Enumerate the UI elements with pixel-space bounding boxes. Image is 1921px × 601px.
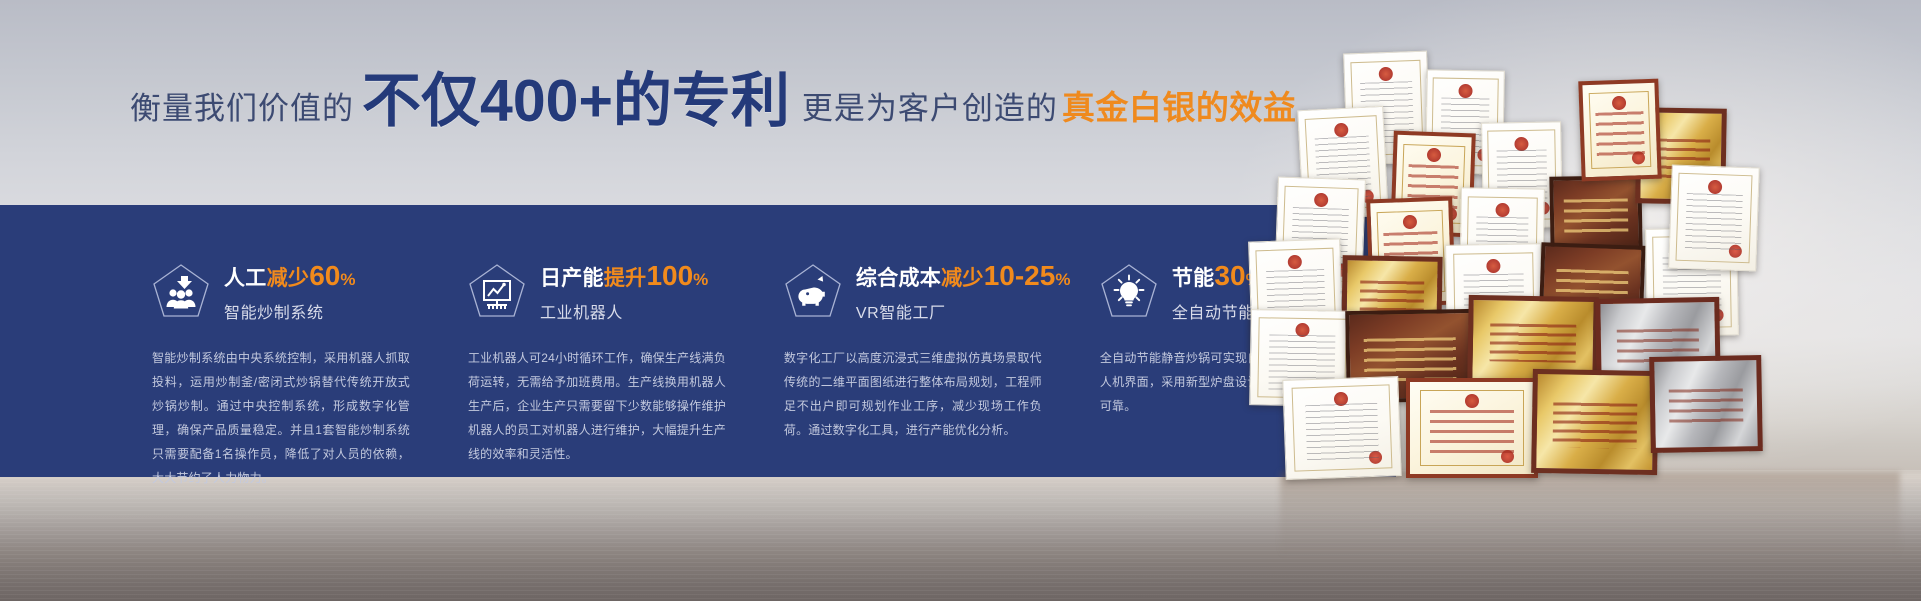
- feature-header: 综合成本减少10-25% VR智能工厂: [784, 260, 1100, 326]
- chart-board-icon: [468, 262, 526, 320]
- feature-panel: 人工减少60% 智能炒制系统 智能炒制系统由中央系统控制，采用机器人抓取投料，运…: [0, 205, 1396, 477]
- feature-title-plain: 节能: [1172, 267, 1215, 290]
- certificate-emblem-icon: [1295, 323, 1309, 337]
- feature-subtitle: 工业机器人: [540, 299, 709, 323]
- feature-title-accent: 减少: [267, 267, 310, 290]
- feature-subtitle: VR智能工厂: [856, 299, 1071, 323]
- certificate-item: [1282, 376, 1401, 480]
- certificate-emblem-icon: [1334, 123, 1349, 138]
- feature-body: 工业机器人可24小时循环工作，确保生产线满负荷运转，无需给予加班费用。生产线换用…: [468, 346, 726, 466]
- certificate-emblem-icon: [1708, 180, 1722, 194]
- feature-title-accent: 提升: [604, 267, 647, 290]
- feature-title: 人工减少60%: [224, 261, 356, 291]
- feature-title-unit: %: [693, 270, 708, 289]
- feature-title-number: 60: [309, 260, 340, 291]
- certificate-item: [1668, 164, 1760, 271]
- certificate-item: [1649, 355, 1763, 453]
- piggy-bank-icon: [784, 262, 842, 320]
- certificate-emblem-icon: [1465, 394, 1479, 408]
- certificate-emblem-icon: [1379, 67, 1393, 81]
- certificate-emblem-icon: [1288, 255, 1302, 269]
- feature-item-cost: 综合成本减少10-25% VR智能工厂 数字化工厂以高度沉浸式三维虚拟仿真场景取…: [784, 260, 1100, 477]
- certificate-emblem-icon: [1612, 96, 1626, 110]
- certificate-emblem-icon: [1314, 193, 1328, 207]
- feature-title-plain: 日产能: [540, 267, 604, 290]
- certificate-item: [1406, 378, 1538, 478]
- feature-title-unit: %: [340, 270, 355, 289]
- people-group-icon: [152, 262, 210, 320]
- feature-title-accent: 减少: [941, 267, 984, 290]
- certificate-item: [1531, 369, 1659, 475]
- certificate-emblem-icon: [1495, 203, 1509, 217]
- feature-title-unit: %: [1055, 270, 1070, 289]
- certificate-seal-icon: [1729, 244, 1742, 257]
- lightbulb-icon: [1100, 262, 1158, 320]
- certificate-emblem-icon: [1427, 148, 1441, 162]
- certificate-emblem-icon: [1403, 215, 1417, 229]
- feature-title: 综合成本减少10-25%: [856, 261, 1071, 291]
- headline-emphasis: 不仅400+的专利: [362, 72, 790, 131]
- certificate-wall: [1250, 48, 1921, 478]
- feature-text: 综合成本减少10-25% VR智能工厂: [856, 260, 1071, 323]
- certificate-emblem-icon: [1486, 259, 1500, 273]
- feature-list: 人工减少60% 智能炒制系统 智能炒制系统由中央系统控制，采用机器人抓取投料，运…: [0, 205, 1396, 477]
- certificate-emblem-icon: [1334, 392, 1348, 406]
- feature-title-number: 30: [1214, 260, 1245, 291]
- feature-title-plain: 人工: [224, 267, 267, 290]
- headline: 衡量我们价值的 不仅400+的专利 更是为客户创造的 真金白银的效益: [130, 72, 1296, 140]
- certificate-emblem-icon: [1514, 136, 1528, 150]
- feature-item-capacity: 日产能提升100% 工业机器人 工业机器人可24小时循环工作，确保生产线满负荷运…: [468, 260, 784, 477]
- certificate-seal-icon: [1369, 451, 1382, 464]
- feature-title-number: 10-25: [984, 260, 1056, 291]
- feature-body: 数字化工厂以高度沉浸式三维虚拟仿真场景取代传统的二维平面图纸进行整体布局规划，工…: [784, 346, 1042, 442]
- feature-title-plain: 综合成本: [856, 267, 941, 290]
- feature-text: 日产能提升100% 工业机器人: [540, 260, 709, 323]
- feature-header: 人工减少60% 智能炒制系统: [152, 260, 468, 326]
- certificate-seal-icon: [1632, 151, 1645, 164]
- certificate-item: [1578, 79, 1661, 182]
- feature-body: 智能炒制系统由中央系统控制，采用机器人抓取投料，运用炒制釜/密闭式炒锅替代传统开…: [152, 346, 410, 490]
- feature-title-number: 100: [646, 260, 693, 291]
- headline-lead: 衡量我们价值的: [130, 93, 354, 124]
- certificate-seal-icon: [1501, 450, 1514, 463]
- headline-middle: 更是为客户创造的: [802, 93, 1058, 124]
- feature-header: 日产能提升100% 工业机器人: [468, 260, 784, 326]
- promo-banner: 衡量我们价值的 不仅400+的专利 更是为客户创造的 真金白银的效益: [0, 0, 1921, 601]
- certificate-emblem-icon: [1458, 84, 1472, 98]
- feature-item-labor: 人工减少60% 智能炒制系统 智能炒制系统由中央系统控制，采用机器人抓取投料，运…: [152, 260, 468, 477]
- feature-text: 人工减少60% 智能炒制系统: [224, 260, 356, 323]
- feature-subtitle: 智能炒制系统: [224, 299, 356, 323]
- feature-title: 日产能提升100%: [540, 261, 709, 291]
- certificate-item: [1549, 175, 1642, 253]
